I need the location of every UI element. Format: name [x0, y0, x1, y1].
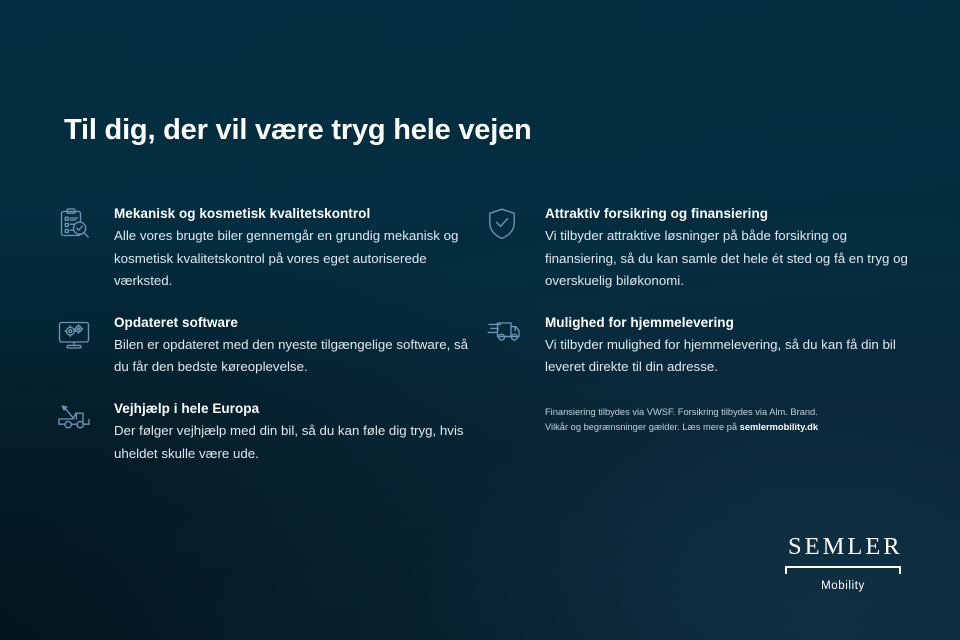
- delivery-truck-icon: [487, 314, 545, 346]
- fineprint-line-1: Finansiering tilbydes via VWSF. Forsikri…: [545, 405, 917, 420]
- tow-truck-icon: [56, 400, 114, 434]
- slide-page: Til dig, der vil være tryg hele vejen: [0, 0, 960, 640]
- feature-body: Alle vores brugte biler gennemgår en gru…: [114, 225, 486, 293]
- shield-check-icon: [487, 205, 545, 241]
- clipboard-check-magnifier-icon: [56, 205, 114, 243]
- feature-body: Bilen er opdateret med den nyeste tilgæn…: [114, 334, 486, 379]
- logo-rule-cap-right: [899, 566, 901, 574]
- fineprint-website-link[interactable]: semlermobility.dk: [740, 422, 818, 432]
- logo-rule-bar: [785, 566, 901, 568]
- feature-heading: Mekanisk og kosmetisk kvalitetskontrol: [114, 206, 486, 221]
- feature-heading: Mulighed for hjemmelevering: [545, 315, 917, 330]
- feature-body: Vi tilbyder attraktive løsninger på både…: [545, 225, 917, 293]
- page-title: Til dig, der vil være tryg hele vejen: [64, 114, 532, 147]
- fineprint-disclaimer: Finansiering tilbydes via VWSF. Forsikri…: [545, 405, 917, 434]
- feature-heading: Attraktiv forsikring og finansiering: [545, 206, 917, 221]
- logo-wordmark: SEMLER: [785, 535, 901, 560]
- feature-heading: Vejhjælp i hele Europa: [114, 401, 486, 416]
- logo-divider-rule: [785, 566, 901, 575]
- logo-subtext: Mobility: [785, 580, 901, 592]
- feature-item-home-delivery: Mulighed for hjemmelevering Vi tilbyder …: [487, 314, 917, 379]
- feature-item-updated-software: Opdateret software Bilen er opdateret me…: [56, 314, 486, 379]
- fineprint-line-2: Vilkår og begrænsninger gælder. Læs mere…: [545, 420, 917, 435]
- feature-body: Vi tilbyder mulighed for hjemmelevering,…: [545, 334, 917, 379]
- semler-mobility-logo: SEMLER Mobility: [785, 535, 901, 593]
- features-column-right: Attraktiv forsikring og finansiering Vi …: [487, 205, 917, 434]
- feature-item-roadside-assistance: Vejhjælp i hele Europa Der følger vejhjæ…: [56, 400, 486, 465]
- feature-heading: Opdateret software: [114, 315, 486, 330]
- monitor-gears-icon: [56, 314, 114, 352]
- features-column-left: Mekanisk og kosmetisk kvalitetskontrol A…: [56, 205, 486, 465]
- feature-body: Der følger vejhjælp med din bil, så du k…: [114, 420, 486, 465]
- fineprint-line-2-text: Vilkår og begrænsninger gælder. Læs mere…: [545, 422, 740, 432]
- feature-item-insurance-financing: Attraktiv forsikring og finansiering Vi …: [487, 205, 917, 293]
- feature-item-quality-control: Mekanisk og kosmetisk kvalitetskontrol A…: [56, 205, 486, 293]
